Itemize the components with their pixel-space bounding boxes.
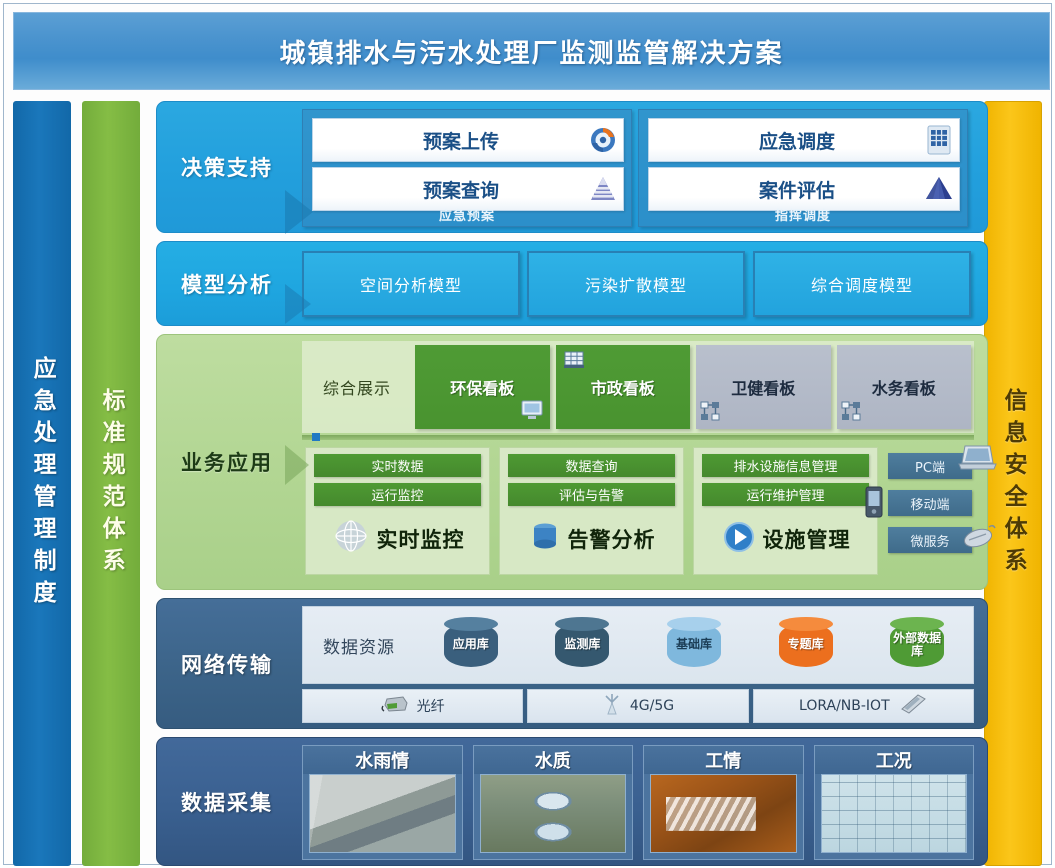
kanban-environment[interactable]: 环保看板: [415, 345, 550, 429]
pillar-information-security: 信息安全体系: [984, 101, 1042, 866]
database-monitoring-label: 监测库: [562, 638, 602, 651]
pyramid-light-icon: [583, 175, 623, 203]
laptop-icon: [957, 443, 997, 477]
biz-column-facility: 排水设施信息管理 运行维护管理 设施管理: [693, 447, 878, 575]
database-external[interactable]: 外部数据库: [861, 617, 973, 673]
database-icon: [528, 517, 562, 561]
data-resources-row: 数据资源 应用库 监测库: [302, 606, 974, 684]
data-card-rainfall-label: 水雨情: [303, 746, 462, 774]
network-node-icon: [841, 401, 861, 425]
cylinder-external-icon: 外部数据库: [890, 617, 944, 673]
pillar-emergency-label: 应急处理管理制度: [30, 356, 54, 612]
biz-feature-alarm-analysis-label: 告警分析: [568, 524, 656, 554]
biz-bar-realtime-data[interactable]: 实时数据: [314, 454, 481, 477]
recycle-circle-icon: [583, 125, 623, 155]
sensor-module-icon: [898, 693, 928, 719]
biz-feature-facility-management[interactable]: 设施管理: [694, 510, 877, 568]
band-decision-label: 决策支持: [157, 102, 297, 232]
biz-bar-operation-monitor[interactable]: 运行监控: [314, 483, 481, 506]
data-card-conditions-label: 工况: [815, 746, 974, 774]
kanban-environment-label: 环保看板: [450, 375, 514, 399]
terminal-microservice-label: 微服务: [910, 531, 949, 550]
cylinder-thematic-icon: 专题库: [779, 617, 833, 673]
card-emergency-dispatch-label: 应急调度: [649, 127, 919, 154]
monitor-icon: [520, 399, 544, 425]
kanban-municipal[interactable]: 市政看板: [556, 345, 691, 429]
cylinder-application-icon: 应用库: [444, 617, 498, 673]
database-application-label: 应用库: [451, 638, 491, 651]
fiber-cable-icon: [381, 694, 409, 718]
terminal-pc-label: PC端: [915, 457, 945, 476]
model-card-spatial[interactable]: 空间分析模型: [302, 251, 520, 317]
kanban-health-label: 卫健看板: [731, 375, 795, 399]
data-collection-row: 水雨情 水质 工情 工况: [302, 745, 974, 860]
band-business-label: 业务应用: [157, 335, 297, 589]
card-case-assessment-label: 案件评估: [649, 176, 919, 203]
database-application[interactable]: 应用库: [415, 617, 527, 673]
kanban-health[interactable]: 卫健看板: [696, 345, 831, 429]
data-card-water-quality-label: 水质: [474, 746, 633, 774]
network-links-row: 光纤 4G/5G LORA/NB-IOT: [302, 689, 974, 723]
link-4g5g[interactable]: 4G/5G: [527, 689, 748, 723]
data-card-rainfall[interactable]: 水雨情: [302, 745, 463, 860]
database-thematic[interactable]: 专题库: [750, 617, 862, 673]
biz-feature-facility-management-label: 设施管理: [763, 524, 851, 554]
card-plan-upload[interactable]: 预案上传: [312, 118, 624, 162]
terminal-mobile-label: 移动端: [910, 494, 949, 513]
model-card-dispatch[interactable]: 综合调度模型: [753, 251, 971, 317]
network-node-icon: [700, 401, 720, 425]
link-lora-nbiot-label: LORA/NB-IOT: [799, 698, 890, 714]
band-decision-support: 决策支持 预案上传 预案查询: [156, 101, 988, 233]
pillar-security-label: 信息安全体系: [1001, 388, 1025, 580]
biz-bar-assessment-alarm[interactable]: 评估与告警: [508, 483, 675, 506]
database-basic-label: 基础库: [674, 638, 714, 651]
kanban-water-affairs[interactable]: 水务看板: [837, 345, 972, 429]
database-external-label: 外部数据库: [890, 632, 944, 658]
biz-bar-operation-maintenance[interactable]: 运行维护管理: [702, 483, 869, 506]
kanban-water-affairs-label: 水务看板: [872, 375, 936, 399]
title-banner: 城镇排水与污水处理厂监测监管解决方案: [13, 12, 1050, 90]
mobile-phone-icon: [863, 485, 885, 523]
pillar-standard-label: 标准规范体系: [99, 388, 123, 580]
biz-feature-alarm-analysis[interactable]: 告警分析: [500, 510, 683, 568]
biz-feature-realtime-monitoring-label: 实时监控: [377, 524, 465, 554]
play-circle-icon: [721, 519, 757, 559]
terminal-mobile[interactable]: 移动端: [888, 490, 972, 516]
diagram-frame: 城镇排水与污水处理厂监测监管解决方案 应急处理管理制度 标准规范体系 信息安全体…: [3, 3, 1052, 865]
biz-column-alarm: 数据查询 评估与告警 告警分析: [499, 447, 684, 575]
kanban-municipal-label: 市政看板: [591, 375, 655, 399]
data-card-works[interactable]: 工情: [643, 745, 804, 860]
band-business-application: 业务应用 综合展示 环保看板 市政看板: [156, 334, 988, 590]
link-fiber-label: 光纤: [417, 696, 445, 716]
link-4g5g-label: 4G/5G: [630, 698, 674, 714]
group-command-dispatch: 应急调度: [638, 109, 968, 227]
database-thematic-label: 专题库: [786, 638, 826, 651]
biz-bar-drainage-facility-info[interactable]: 排水设施信息管理: [702, 454, 869, 477]
database-monitoring[interactable]: 监测库: [527, 617, 639, 673]
grid-table-icon: [919, 125, 959, 155]
biz-column-monitoring: 实时数据 运行监控 实时监控: [305, 447, 490, 575]
data-card-water-quality[interactable]: 水质: [473, 745, 634, 860]
card-plan-query-label: 预案查询: [313, 176, 583, 203]
group-emergency-plan-caption: 应急预案: [303, 205, 631, 224]
page-title: 城镇排水与污水处理厂监测监管解决方案: [279, 33, 783, 70]
canal-wall-photo: [309, 774, 456, 853]
building-icon: [562, 349, 586, 375]
group-command-dispatch-caption: 指挥调度: [639, 205, 967, 224]
pillar-standards-system: 标准规范体系: [82, 101, 140, 866]
data-card-conditions[interactable]: 工况: [814, 745, 975, 860]
biz-bar-data-query[interactable]: 数据查询: [508, 454, 675, 477]
showcase-divider: [302, 435, 974, 440]
antenna-icon: [602, 692, 622, 720]
database-basic[interactable]: 基础库: [638, 617, 750, 673]
clarifier-tanks-photo: [480, 774, 627, 853]
data-resources-label: 数据资源: [303, 633, 415, 658]
pyramid-dark-icon: [919, 175, 959, 203]
band-model-label: 模型分析: [157, 242, 297, 325]
model-card-diffusion[interactable]: 污染扩散模型: [527, 251, 745, 317]
band-network-label: 网络传输: [157, 599, 297, 728]
showcase-row: 综合展示 环保看板 市政看板: [302, 341, 974, 433]
data-card-works-label: 工情: [644, 746, 803, 774]
band-network-transmission: 网络传输 数据资源 应用库 监测库: [156, 598, 988, 729]
wireless-mouse-icon: [959, 521, 997, 553]
card-emergency-dispatch[interactable]: 应急调度: [648, 118, 960, 162]
divider-marker: [312, 433, 320, 441]
buried-pipe-photo: [650, 774, 797, 853]
band-data-collection: 数据采集 水雨情 水质 工情 工况: [156, 737, 988, 866]
scada-schematic-photo: [821, 774, 968, 853]
pillar-emergency-management: 应急处理管理制度: [13, 101, 71, 866]
link-lora-nbiot[interactable]: LORA/NB-IOT: [753, 689, 974, 723]
band-data-label: 数据采集: [157, 738, 297, 865]
card-plan-upload-label: 预案上传: [313, 127, 583, 154]
group-emergency-plan: 预案上传 预案查询: [302, 109, 632, 227]
biz-feature-realtime-monitoring[interactable]: 实时监控: [306, 510, 489, 568]
cylinder-monitoring-icon: 监测库: [555, 617, 609, 673]
globe-icon: [331, 517, 371, 561]
showcase-label: 综合展示: [302, 341, 412, 433]
link-fiber[interactable]: 光纤: [302, 689, 523, 723]
cylinder-basic-icon: 基础库: [667, 617, 721, 673]
band-model-analysis: 模型分析 空间分析模型 污染扩散模型 综合调度模型: [156, 241, 988, 326]
layer-stack: 决策支持 预案上传 预案查询: [156, 101, 988, 866]
